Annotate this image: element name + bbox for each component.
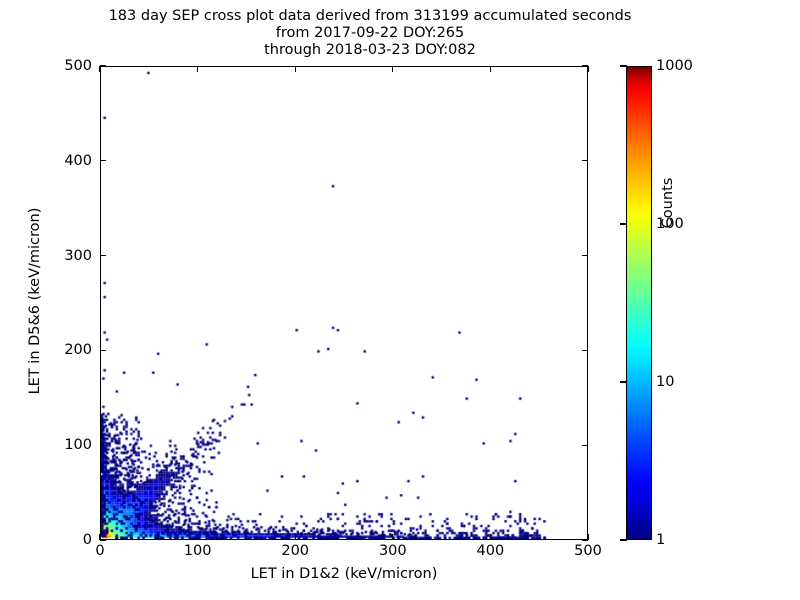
y-tick-mark <box>100 160 106 161</box>
colorbar-tick-label: 1000 <box>656 59 693 74</box>
x-axis-label: LET in D1&2 (keV/micron) <box>100 566 588 582</box>
colorbar-tick-mark <box>620 539 627 540</box>
y-tick-label: 400 <box>36 154 92 169</box>
y-tick-mark-right <box>582 350 588 351</box>
y-tick-mark <box>100 255 106 256</box>
x-tick-mark-top <box>99 66 100 72</box>
colorbar-gradient <box>627 67 651 539</box>
plot-area <box>100 66 588 540</box>
x-tick-mark-top <box>587 66 588 72</box>
y-axis-label: LET in D5&6 (keV/micron) <box>27 121 43 481</box>
x-tick-mark-top <box>490 66 491 72</box>
x-tick-mark <box>99 534 100 540</box>
x-tick-label: 500 <box>553 544 623 559</box>
x-tick-mark-top <box>295 66 296 72</box>
x-tick-mark-top <box>392 66 393 72</box>
x-tick-label: 100 <box>163 544 233 559</box>
y-tick-mark <box>100 350 106 351</box>
y-tick-mark <box>100 445 106 446</box>
title-line-2: from 2017-09-22 DOY:265 <box>0 25 740 42</box>
colorbar-tick-label: 10 <box>656 375 674 390</box>
y-tick-mark-right <box>582 445 588 446</box>
x-tick-mark-top <box>197 66 198 72</box>
y-tick-label: 100 <box>36 438 92 453</box>
colorbar-title: Counts <box>660 103 676 303</box>
colorbar-tick-mark <box>620 381 627 382</box>
y-tick-mark-right <box>582 255 588 256</box>
colorbar-tick-mark <box>620 65 627 66</box>
x-tick-mark <box>587 534 588 540</box>
y-tick-mark <box>100 65 106 66</box>
chart-title: 183 day SEP cross plot data derived from… <box>0 8 740 59</box>
x-tick-mark <box>392 534 393 540</box>
x-tick-mark <box>490 534 491 540</box>
colorbar-tick-mark <box>620 223 627 224</box>
figure-canvas: 183 day SEP cross plot data derived from… <box>0 0 800 600</box>
title-line-1: 183 day SEP cross plot data derived from… <box>0 8 740 25</box>
x-tick-mark <box>295 534 296 540</box>
y-tick-label: 200 <box>36 343 92 358</box>
colorbar-tick-label: 1 <box>656 533 665 548</box>
x-tick-label: 300 <box>358 544 428 559</box>
y-tick-mark <box>100 539 106 540</box>
x-tick-label: 400 <box>455 544 525 559</box>
y-tick-label: 300 <box>36 249 92 264</box>
x-tick-label: 200 <box>260 544 330 559</box>
title-line-3: through 2018-03-23 DOY:082 <box>0 42 740 59</box>
x-tick-mark <box>197 534 198 540</box>
y-tick-mark-right <box>582 160 588 161</box>
y-tick-label: 500 <box>36 59 92 74</box>
colorbar <box>626 66 652 540</box>
x-tick-label: 0 <box>65 544 135 559</box>
density-scatter-plot <box>101 67 587 539</box>
